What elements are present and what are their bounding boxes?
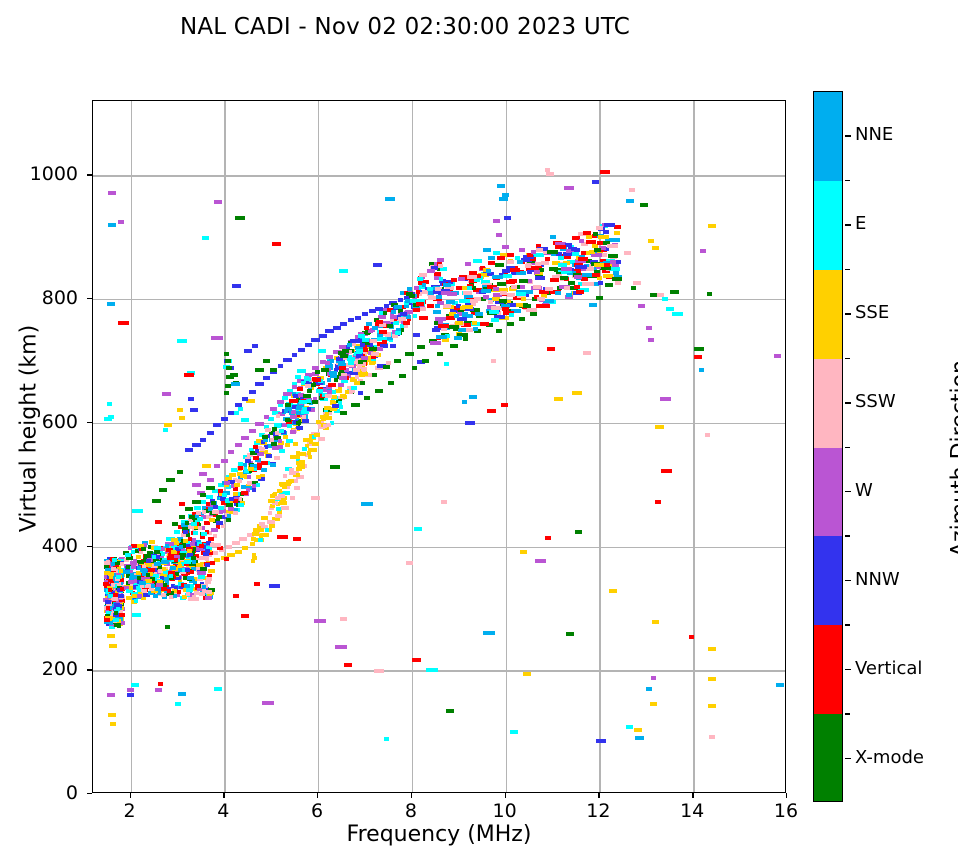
data-point bbox=[238, 407, 243, 411]
data-point bbox=[185, 448, 193, 452]
data-point bbox=[501, 403, 508, 407]
data-point bbox=[210, 561, 215, 565]
data-point bbox=[437, 352, 442, 356]
gridline-vertical bbox=[224, 101, 225, 792]
data-point bbox=[451, 278, 456, 282]
gridline-vertical bbox=[318, 101, 319, 792]
data-point bbox=[169, 574, 173, 578]
data-point bbox=[277, 489, 282, 493]
data-point bbox=[700, 249, 706, 253]
data-point bbox=[112, 558, 117, 562]
gridline-vertical bbox=[599, 101, 600, 792]
data-point bbox=[467, 286, 472, 290]
data-point bbox=[263, 359, 270, 363]
data-point bbox=[462, 305, 473, 309]
data-point bbox=[241, 418, 249, 422]
data-point bbox=[137, 594, 142, 598]
data-point bbox=[412, 366, 417, 370]
data-point bbox=[375, 389, 383, 393]
y-tick-label: 0 bbox=[8, 782, 78, 804]
data-point bbox=[227, 514, 231, 518]
data-point bbox=[178, 692, 187, 696]
gridline-vertical bbox=[506, 101, 507, 792]
data-point bbox=[250, 542, 255, 546]
data-point bbox=[488, 300, 493, 304]
data-point bbox=[118, 321, 129, 325]
data-point bbox=[613, 271, 619, 275]
data-point bbox=[416, 290, 420, 294]
data-point bbox=[154, 546, 161, 550]
data-point bbox=[262, 435, 268, 439]
y-tick-mark bbox=[87, 793, 92, 794]
data-point bbox=[507, 253, 515, 257]
data-point bbox=[493, 251, 501, 255]
data-point bbox=[564, 286, 570, 290]
data-point bbox=[366, 322, 372, 326]
data-point bbox=[111, 562, 115, 566]
data-point bbox=[398, 298, 403, 302]
data-point bbox=[373, 263, 382, 267]
data-point bbox=[105, 600, 111, 604]
data-point bbox=[465, 421, 475, 425]
data-point bbox=[244, 349, 253, 353]
data-point bbox=[216, 515, 222, 519]
data-point bbox=[314, 619, 326, 623]
data-point bbox=[248, 467, 254, 471]
data-point bbox=[388, 381, 394, 385]
data-point bbox=[572, 247, 577, 251]
data-point bbox=[249, 390, 256, 394]
x-tick-mark bbox=[130, 793, 131, 798]
data-point bbox=[583, 231, 591, 235]
data-point bbox=[278, 439, 282, 443]
data-point bbox=[523, 672, 531, 676]
data-point bbox=[131, 683, 139, 687]
data-point bbox=[255, 368, 263, 372]
colorbar-segment bbox=[814, 92, 842, 181]
data-point bbox=[502, 193, 509, 197]
data-point bbox=[177, 408, 183, 412]
data-point bbox=[422, 283, 426, 287]
colorbar-tick-mark bbox=[845, 491, 851, 493]
data-point bbox=[170, 566, 176, 570]
data-point bbox=[107, 634, 115, 638]
data-point bbox=[390, 315, 397, 319]
data-point bbox=[278, 494, 285, 498]
data-point bbox=[438, 324, 449, 328]
data-point bbox=[361, 372, 366, 376]
data-point bbox=[295, 455, 300, 459]
data-point bbox=[446, 300, 455, 304]
data-point bbox=[459, 299, 470, 303]
data-point bbox=[486, 269, 491, 273]
data-point bbox=[530, 312, 537, 316]
data-point bbox=[534, 270, 540, 274]
data-point bbox=[533, 285, 541, 289]
data-point bbox=[507, 293, 515, 297]
data-point bbox=[347, 343, 352, 347]
data-point bbox=[325, 329, 334, 333]
data-point bbox=[550, 235, 556, 239]
y-tick-mark bbox=[87, 546, 92, 547]
data-point bbox=[230, 373, 238, 377]
data-point bbox=[504, 216, 511, 220]
data-point bbox=[351, 386, 357, 390]
data-point bbox=[245, 459, 251, 463]
data-point bbox=[308, 448, 314, 452]
data-point bbox=[385, 197, 395, 201]
gridline-vertical bbox=[412, 101, 413, 792]
data-point bbox=[190, 542, 195, 546]
data-point bbox=[229, 497, 234, 501]
x-tick-mark bbox=[786, 793, 787, 798]
data-point bbox=[604, 223, 615, 227]
data-point bbox=[118, 220, 124, 224]
data-point bbox=[184, 584, 190, 588]
data-point bbox=[142, 589, 147, 593]
data-point bbox=[427, 287, 432, 291]
data-point bbox=[252, 484, 256, 488]
data-point bbox=[616, 260, 621, 264]
data-point bbox=[299, 400, 307, 404]
data-point bbox=[276, 507, 281, 511]
data-point bbox=[555, 245, 566, 249]
data-point bbox=[152, 555, 156, 559]
data-point bbox=[465, 262, 470, 266]
data-point bbox=[109, 644, 117, 648]
data-point bbox=[364, 326, 369, 330]
data-point bbox=[224, 391, 229, 395]
data-point bbox=[709, 735, 715, 739]
data-point bbox=[536, 248, 543, 252]
data-point bbox=[175, 702, 181, 706]
data-point bbox=[108, 713, 116, 717]
y-axis-label: Virtual height (km) bbox=[17, 259, 42, 599]
x-tick-label: 6 bbox=[294, 800, 340, 822]
data-point bbox=[214, 464, 220, 468]
data-point bbox=[662, 297, 669, 301]
data-point bbox=[162, 567, 166, 571]
data-point bbox=[264, 415, 269, 419]
data-point bbox=[483, 295, 489, 299]
data-point bbox=[205, 563, 210, 567]
data-point bbox=[635, 736, 644, 740]
data-point bbox=[233, 594, 240, 598]
data-point bbox=[353, 368, 360, 372]
data-point bbox=[422, 359, 429, 363]
data-point bbox=[324, 406, 331, 410]
data-point bbox=[158, 682, 163, 686]
data-point bbox=[283, 474, 287, 478]
data-point bbox=[517, 260, 523, 264]
data-point bbox=[268, 511, 272, 515]
data-point bbox=[592, 180, 599, 184]
data-point bbox=[575, 265, 587, 269]
data-point bbox=[555, 291, 561, 295]
data-point bbox=[596, 739, 606, 743]
data-point bbox=[502, 307, 509, 311]
data-point bbox=[475, 312, 483, 316]
gridline-horizontal bbox=[93, 423, 785, 424]
data-point bbox=[503, 274, 512, 278]
data-point bbox=[499, 299, 507, 303]
data-point bbox=[140, 568, 147, 572]
data-point bbox=[309, 440, 313, 444]
data-point bbox=[211, 336, 223, 340]
data-point bbox=[495, 263, 504, 267]
data-point bbox=[184, 560, 191, 564]
data-point bbox=[126, 556, 133, 560]
data-point bbox=[454, 314, 459, 318]
data-point bbox=[566, 632, 574, 636]
data-point bbox=[541, 261, 549, 265]
data-point bbox=[127, 693, 134, 697]
data-point bbox=[177, 470, 183, 474]
data-point bbox=[235, 443, 242, 447]
data-point bbox=[707, 292, 712, 296]
data-point bbox=[297, 387, 303, 391]
data-point bbox=[379, 330, 387, 334]
data-point bbox=[413, 314, 417, 318]
data-point bbox=[607, 244, 618, 248]
data-point bbox=[190, 408, 198, 412]
data-point bbox=[279, 449, 285, 453]
data-point bbox=[314, 433, 320, 437]
data-point bbox=[131, 565, 136, 569]
data-point bbox=[499, 197, 508, 201]
data-point bbox=[334, 378, 338, 382]
data-point bbox=[592, 273, 600, 277]
colorbar-tick-label: Vertical bbox=[855, 658, 922, 679]
data-point bbox=[581, 277, 588, 281]
data-point bbox=[256, 475, 261, 479]
data-point bbox=[224, 557, 229, 561]
data-point bbox=[206, 590, 212, 594]
data-point bbox=[407, 287, 412, 291]
data-point bbox=[238, 466, 243, 470]
x-tick-mark bbox=[411, 793, 412, 798]
colorbar-boundary-tick bbox=[845, 713, 850, 715]
data-point bbox=[340, 322, 347, 326]
data-point bbox=[166, 478, 175, 482]
data-point bbox=[211, 501, 216, 505]
data-point bbox=[435, 317, 446, 321]
data-point bbox=[199, 544, 204, 548]
data-point bbox=[185, 507, 193, 511]
data-point bbox=[496, 233, 502, 237]
data-point bbox=[194, 591, 199, 595]
data-point bbox=[330, 407, 337, 411]
data-point bbox=[267, 520, 275, 524]
data-point bbox=[502, 269, 510, 273]
data-point bbox=[520, 550, 527, 554]
data-point bbox=[235, 403, 242, 407]
data-point bbox=[656, 293, 664, 297]
data-point bbox=[332, 404, 339, 408]
data-point bbox=[296, 451, 300, 455]
data-point bbox=[640, 203, 648, 207]
data-point bbox=[481, 289, 491, 293]
data-point bbox=[547, 250, 558, 254]
data-point bbox=[188, 397, 194, 401]
data-point bbox=[270, 407, 276, 411]
data-point bbox=[184, 373, 194, 377]
data-point bbox=[454, 336, 462, 340]
data-point bbox=[443, 283, 451, 287]
data-point bbox=[339, 269, 348, 273]
data-point bbox=[593, 232, 598, 236]
data-point bbox=[574, 285, 580, 289]
data-point bbox=[208, 569, 215, 573]
data-point bbox=[447, 292, 457, 296]
data-point bbox=[172, 522, 178, 526]
data-point bbox=[330, 465, 340, 469]
data-point bbox=[574, 275, 582, 279]
data-point bbox=[232, 541, 241, 545]
data-point bbox=[516, 303, 523, 307]
data-point bbox=[414, 527, 422, 531]
colorbar-boundary-tick bbox=[845, 535, 850, 537]
data-point bbox=[612, 277, 622, 281]
colorbar-segment bbox=[814, 181, 842, 270]
data-point bbox=[289, 471, 296, 475]
data-point bbox=[200, 493, 206, 497]
data-point bbox=[369, 347, 377, 351]
data-point bbox=[655, 425, 664, 429]
data-point bbox=[185, 521, 189, 525]
data-point bbox=[651, 676, 656, 680]
data-point bbox=[596, 226, 603, 230]
data-point bbox=[198, 526, 202, 530]
data-point bbox=[451, 325, 459, 329]
data-point bbox=[270, 463, 276, 467]
data-point bbox=[224, 352, 229, 356]
data-point bbox=[362, 312, 368, 316]
data-point bbox=[162, 392, 171, 396]
data-point bbox=[631, 286, 636, 290]
data-point bbox=[202, 236, 209, 240]
data-point bbox=[582, 282, 589, 286]
data-point bbox=[439, 277, 443, 281]
data-point bbox=[275, 514, 282, 518]
data-point bbox=[467, 275, 477, 279]
data-point bbox=[200, 438, 206, 442]
data-point bbox=[319, 334, 327, 338]
y-tick-mark bbox=[87, 298, 92, 299]
data-point bbox=[419, 316, 428, 320]
data-point bbox=[303, 394, 311, 398]
data-point bbox=[241, 436, 249, 440]
plot-area bbox=[92, 100, 786, 793]
data-point bbox=[383, 365, 390, 369]
data-point bbox=[491, 359, 496, 363]
data-point bbox=[226, 545, 232, 549]
data-point bbox=[152, 499, 161, 503]
gridline-vertical bbox=[693, 101, 694, 792]
data-point bbox=[256, 483, 260, 487]
data-point bbox=[278, 364, 283, 368]
ionogram-figure: NAL CADI - Nov 02 02:30:00 2023 UTC 2468… bbox=[0, 0, 958, 857]
data-point bbox=[430, 341, 441, 345]
data-point bbox=[323, 424, 327, 428]
data-point bbox=[436, 295, 442, 299]
x-tick-mark bbox=[223, 793, 224, 798]
data-point bbox=[521, 297, 526, 301]
data-point bbox=[626, 199, 634, 203]
data-point bbox=[211, 528, 218, 532]
data-point bbox=[293, 442, 299, 446]
gridline-horizontal bbox=[93, 670, 785, 671]
data-point bbox=[391, 310, 396, 314]
data-point bbox=[442, 338, 449, 342]
data-point bbox=[255, 422, 263, 426]
data-point bbox=[151, 584, 155, 588]
colorbar-tick-mark bbox=[845, 224, 851, 226]
colorbar-boundary-tick bbox=[845, 180, 850, 182]
data-point bbox=[119, 613, 125, 617]
data-point bbox=[488, 256, 495, 260]
data-point bbox=[161, 552, 165, 556]
data-point bbox=[527, 270, 532, 274]
y-tick-label: 1000 bbox=[8, 163, 78, 185]
data-point bbox=[216, 521, 223, 525]
data-point bbox=[315, 370, 320, 374]
data-point bbox=[493, 219, 501, 223]
data-point bbox=[374, 669, 384, 673]
data-point bbox=[192, 560, 196, 564]
data-point bbox=[416, 302, 424, 306]
data-point bbox=[251, 559, 255, 563]
data-point bbox=[228, 411, 234, 415]
data-point bbox=[473, 327, 478, 331]
data-point bbox=[261, 533, 266, 537]
x-tick-label: 4 bbox=[200, 800, 246, 822]
data-point bbox=[146, 559, 151, 563]
colorbar-segment bbox=[814, 536, 842, 625]
data-point bbox=[436, 335, 447, 339]
data-point bbox=[550, 278, 559, 282]
data-point bbox=[283, 358, 291, 362]
data-point bbox=[234, 483, 240, 487]
data-point bbox=[646, 326, 652, 330]
data-point bbox=[212, 510, 219, 514]
colorbar-tick-label: E bbox=[855, 213, 866, 234]
data-point bbox=[186, 592, 190, 596]
data-point bbox=[155, 520, 162, 524]
colorbar-tick-mark bbox=[845, 669, 851, 671]
data-point bbox=[564, 186, 574, 190]
data-point bbox=[149, 540, 155, 544]
data-point bbox=[278, 403, 283, 407]
colorbar-tick-label: SSE bbox=[855, 302, 889, 323]
data-point bbox=[502, 245, 509, 249]
data-point bbox=[196, 511, 201, 515]
data-point bbox=[162, 593, 166, 597]
data-point bbox=[361, 356, 368, 360]
page-title: NAL CADI - Nov 02 02:30:00 2023 UTC bbox=[0, 14, 810, 40]
data-point bbox=[261, 461, 268, 465]
data-point bbox=[238, 503, 244, 507]
data-point bbox=[558, 256, 564, 260]
data-point bbox=[202, 464, 211, 468]
data-point bbox=[249, 429, 256, 433]
data-point bbox=[520, 285, 525, 289]
data-point bbox=[192, 443, 201, 447]
data-point bbox=[181, 533, 186, 537]
data-point bbox=[258, 538, 263, 542]
data-point bbox=[290, 496, 295, 500]
data-point bbox=[493, 287, 499, 291]
